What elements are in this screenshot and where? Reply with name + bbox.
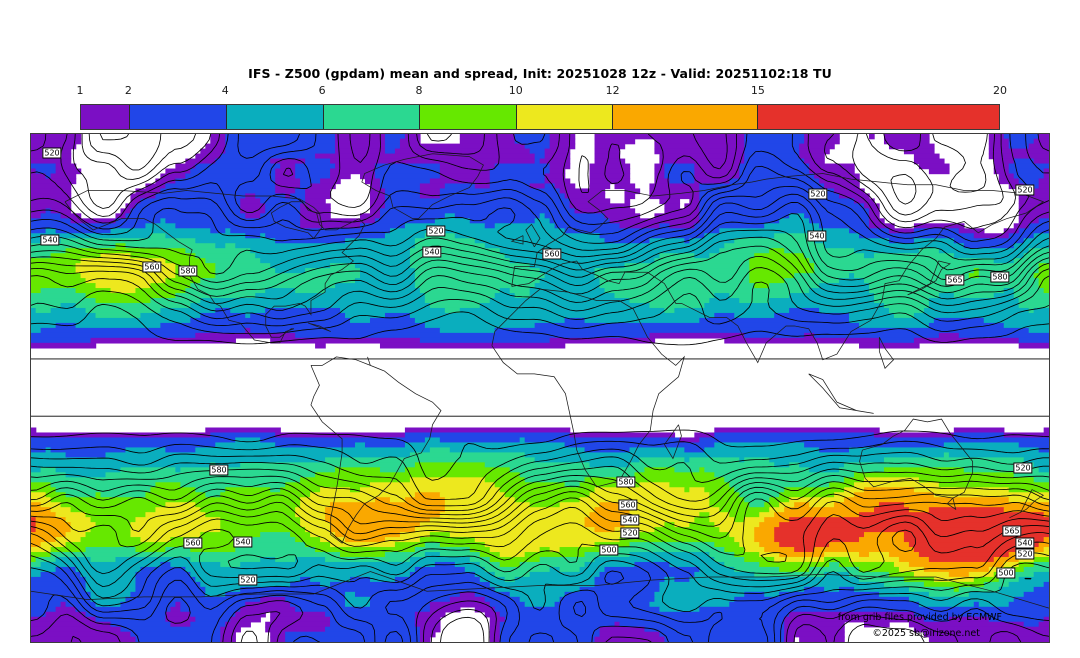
contour-label: 520 [1015, 549, 1034, 560]
contour-label: 520 [620, 528, 639, 539]
colorbar-segment [757, 105, 999, 129]
contour-label: 500 [996, 568, 1015, 579]
contour-label: 580 [990, 272, 1009, 283]
colorbar-tick: 4 [222, 84, 229, 97]
contour-label: 540 [620, 515, 639, 526]
colorbar-gradient [80, 104, 1000, 130]
colorbar-tick: 15 [751, 84, 765, 97]
copyright-credit: ©2025 sb@irizone.net [872, 628, 980, 639]
contour-label: 520 [238, 575, 257, 586]
contour-label: 540 [40, 235, 59, 246]
map-panel[interactable] [30, 133, 1050, 643]
contour-label: 520 [42, 148, 61, 159]
colorbar-tick: 2 [125, 84, 132, 97]
contour-label: 580 [178, 266, 197, 277]
colorbar-tick: 6 [319, 84, 326, 97]
colorbar-tick: 12 [606, 84, 620, 97]
contour-label: 580 [209, 465, 228, 476]
spread-shading [31, 134, 1049, 642]
colorbar-segment [323, 105, 420, 129]
colorbar-segment [419, 105, 516, 129]
contour-label: 580 [616, 477, 635, 488]
colorbar-tick: 8 [415, 84, 422, 97]
contour-label: 520 [1013, 463, 1032, 474]
contour-label: 540 [233, 537, 252, 548]
map-canvas [31, 134, 1049, 642]
contour-label: 540 [422, 247, 441, 258]
contour-label: 520 [1015, 185, 1034, 196]
source-credit: from grib files provided by ECMWF [838, 612, 1002, 623]
contour-label: 520 [426, 226, 445, 237]
colorbar-tick-labels: 1246810121520 [80, 84, 1000, 102]
contour-label: 565 [1002, 526, 1021, 537]
colorbar: 1246810121520 [80, 104, 1000, 130]
contour-label: 560 [142, 262, 161, 273]
colorbar-tick: 1 [77, 84, 84, 97]
colorbar-tick: 10 [509, 84, 523, 97]
weather-chart-page: IFS - Z500 (gpdam) mean and spread, Init… [0, 0, 1080, 658]
colorbar-segment [81, 105, 129, 129]
chart-title: IFS - Z500 (gpdam) mean and spread, Init… [0, 66, 1080, 81]
colorbar-segment [226, 105, 323, 129]
colorbar-segment [516, 105, 613, 129]
contour-label: 565 [945, 275, 964, 286]
contour-label: 540 [807, 231, 826, 242]
colorbar-tick: 20 [993, 84, 1007, 97]
colorbar-segment [612, 105, 757, 129]
contour-label: 500 [599, 545, 618, 556]
contour-label: 540 [1015, 538, 1034, 549]
colorbar-segment [129, 105, 226, 129]
contour-label: 560 [542, 249, 561, 260]
contour-label: 560 [183, 538, 202, 549]
contour-label: 520 [808, 189, 827, 200]
contour-label: 560 [618, 500, 637, 511]
